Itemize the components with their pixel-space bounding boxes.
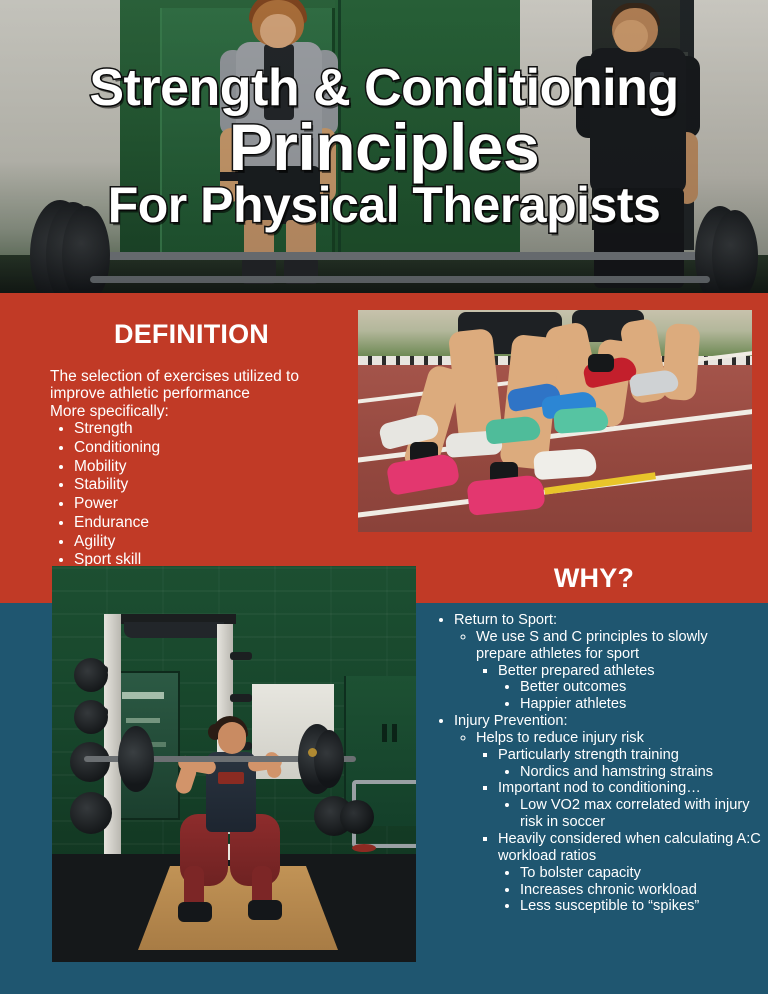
why-sublist: Better outcomesHappier athletes	[498, 679, 762, 713]
why-list-item-label: Important nod to conditioning…	[498, 780, 701, 796]
why-list-item-label: Heavily considered when calculating A:C …	[498, 831, 761, 864]
definition-list-item: Stability	[74, 476, 340, 495]
why-list-item-label: Increases chronic workload	[520, 882, 697, 898]
why-list-item: Better prepared athletesBetter outcomesH…	[498, 663, 762, 714]
why-list-item: Better outcomes	[520, 679, 762, 696]
why-list-item-label: Happier athletes	[520, 696, 626, 712]
why-list-item: Nordics and hamstring strains	[520, 764, 762, 781]
why-sublist: Helps to reduce injury riskParticularly …	[454, 730, 762, 915]
why-list-item: To bolster capacity	[520, 865, 762, 882]
definition-list-item: Endurance	[74, 514, 340, 533]
why-sublist: Particularly strength trainingNordics an…	[476, 747, 762, 915]
why-list-item: Particularly strength trainingNordics an…	[498, 747, 762, 781]
definition-intro-line-2: improve athletic performance	[50, 385, 340, 402]
why-list-item-label: Low VO2 max correlated with injury risk …	[520, 797, 750, 830]
why-sublist: To bolster capacityIncreases chronic wor…	[498, 865, 762, 916]
why-list-item-label: Helps to reduce injury risk	[476, 730, 644, 746]
why-list-item: Injury Prevention:Helps to reduce injury…	[454, 713, 762, 915]
why-sublist: Nordics and hamstring strains	[498, 764, 762, 781]
why-list-item-label: Particularly strength training	[498, 747, 679, 763]
why-list-item-label: Injury Prevention:	[454, 713, 568, 729]
hero-title-line-3: For Physical Therapists	[108, 181, 661, 229]
why-sublist: We use S and C principles to slowly prep…	[454, 629, 762, 713]
definition-list-item: Agility	[74, 533, 340, 552]
why-body: Return to Sport:We use S and C principle…	[432, 612, 762, 915]
hero-title-line-1: Strength & Conditioning	[89, 64, 678, 114]
why-list-item-label: Less susceptible to “spikes”	[520, 898, 699, 914]
definition-intro-line-3: More specifically:	[50, 403, 340, 420]
why-list-item: Helps to reduce injury riskParticularly …	[476, 730, 762, 915]
definition-list-item: Strength	[74, 420, 340, 439]
track-runners-photo	[358, 310, 752, 532]
why-list-item: Less susceptible to “spikes”	[520, 898, 762, 915]
why-list-item-label: We use S and C principles to slowly prep…	[476, 629, 708, 662]
why-sublist: Better prepared athletesBetter outcomesH…	[476, 663, 762, 714]
why-list-item-label: Better outcomes	[520, 679, 626, 695]
why-list-item: Important nod to conditioning…Low VO2 ma…	[498, 780, 762, 831]
why-list-item: We use S and C principles to slowly prep…	[476, 629, 762, 713]
hero-title-stack: Strength & Conditioning Principles For P…	[0, 0, 768, 293]
why-heading: WHY?	[420, 563, 768, 594]
definition-body: The selection of exercises utilized to i…	[50, 368, 340, 570]
definition-list-item: Mobility	[74, 458, 340, 477]
why-list-item: Increases chronic workload	[520, 882, 762, 899]
why-list-item: Return to Sport:We use S and C principle…	[454, 612, 762, 713]
squat-athlete-photo	[52, 566, 416, 962]
why-list-item-label: Return to Sport:	[454, 612, 557, 628]
poster-page: Strength & Conditioning Principles For P…	[0, 0, 768, 994]
why-sublist: Low VO2 max correlated with injury risk …	[498, 797, 762, 831]
definition-list-item: Conditioning	[74, 439, 340, 458]
definition-heading: DEFINITION	[114, 319, 269, 350]
why-list-item: Heavily considered when calculating A:C …	[498, 831, 762, 915]
why-list-item-label: To bolster capacity	[520, 865, 641, 881]
why-list-item: Happier athletes	[520, 696, 762, 713]
why-list-item-label: Better prepared athletes	[498, 663, 655, 679]
why-list-item-label: Nordics and hamstring strains	[520, 764, 713, 780]
definition-intro-line-1: The selection of exercises utilized to	[50, 368, 340, 385]
hero-title-line-2: Principles	[229, 116, 539, 179]
why-list: Return to Sport:We use S and C principle…	[432, 612, 762, 915]
definition-list-item: Power	[74, 495, 340, 514]
hero-banner: Strength & Conditioning Principles For P…	[0, 0, 768, 293]
why-list-item: Low VO2 max correlated with injury risk …	[520, 797, 762, 831]
definition-list: StrengthConditioningMobilityStabilityPow…	[50, 420, 340, 570]
